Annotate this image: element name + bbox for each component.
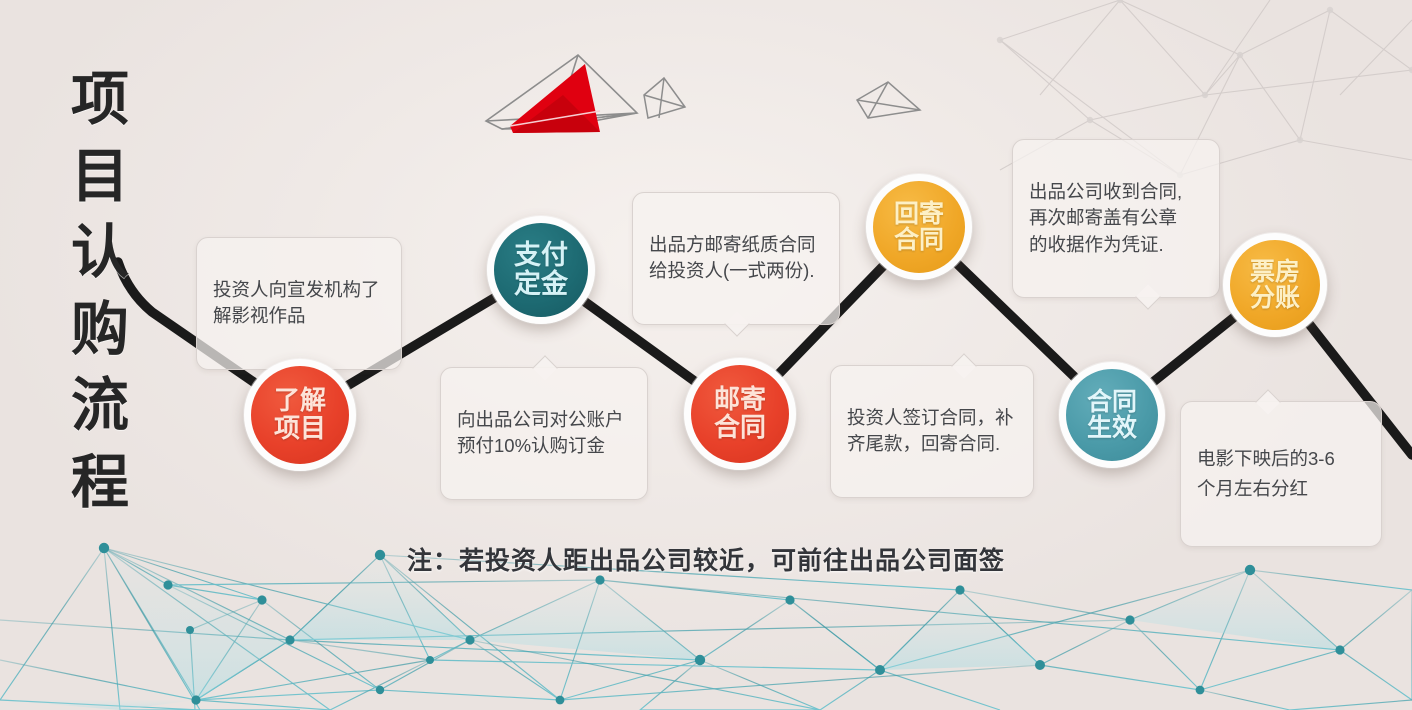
title-char-4: 购: [71, 292, 129, 369]
bubble-return-contract: 出品公司收到合同, 再次邮寄盖有公章 的收据作为凭证.: [1012, 139, 1220, 298]
bubble-text: 电影下映后的3-6 个月左右分红: [1197, 448, 1335, 499]
title-char-5: 流: [71, 368, 129, 445]
footer-note: 注：若投资人距出品公司较近，可前往出品公司面签: [0, 541, 1412, 577]
node-label: 回寄 合同: [894, 201, 944, 254]
node-label: 邮寄 合同: [714, 386, 766, 441]
triangle-filled-red: [510, 64, 600, 133]
node-label: 合同 生效: [1087, 389, 1137, 442]
node-mail-contract[interactable]: 邮寄 合同: [684, 358, 796, 470]
page-title: 项 目 认 购 流 程: [52, 62, 148, 521]
bubble-text: 向出品公司对公账户 预付10%认购订金: [457, 409, 624, 457]
triangle-outline-right: [857, 82, 920, 118]
bubble-text: 出品公司收到合同, 再次邮寄盖有公章 的收据作为凭证.: [1029, 181, 1182, 255]
title-char-6: 程: [71, 445, 129, 522]
triangle-outline-small: [644, 78, 685, 118]
bubble-box-office-split: 电影下映后的3-6 个月左右分红: [1180, 401, 1382, 547]
node-contract-effective[interactable]: 合同 生效: [1059, 362, 1165, 468]
node-label: 了解 项目: [274, 387, 326, 442]
bubble-understand-project: 投资人向宣发机构了 解影视作品: [196, 237, 402, 370]
bubble-pay-deposit: 向出品公司对公账户 预付10%认购订金: [440, 367, 648, 500]
node-label: 支付 定金: [514, 241, 568, 298]
node-pay-deposit[interactable]: 支付 定金: [487, 216, 595, 324]
bubble-contract-effective: 投资人签订合同，补 齐尾款，回寄合同.: [830, 365, 1034, 498]
infographic-canvas: 项 目 认 购 流 程 投资人向宣发机构了 解影视作品 向出品公司对公账户 预付…: [0, 0, 1412, 710]
node-understand-project[interactable]: 了解 项目: [244, 359, 356, 471]
title-char-1: 项: [71, 62, 129, 139]
bubble-text: 出品方邮寄纸质合同 给投资人(一式两份).: [649, 234, 816, 282]
bubble-text: 投资人签订合同，补 齐尾款，回寄合同.: [847, 407, 1014, 455]
title-char-3: 认: [71, 215, 129, 292]
node-return-contract[interactable]: 回寄 合同: [866, 174, 972, 280]
bubble-mail-contract: 出品方邮寄纸质合同 给投资人(一式两份).: [632, 192, 840, 325]
node-box-office-split[interactable]: 票房 分账: [1223, 233, 1327, 337]
title-char-2: 目: [71, 139, 129, 216]
bubble-text: 投资人向宣发机构了 解影视作品: [213, 279, 380, 327]
node-label: 票房 分账: [1250, 259, 1300, 312]
